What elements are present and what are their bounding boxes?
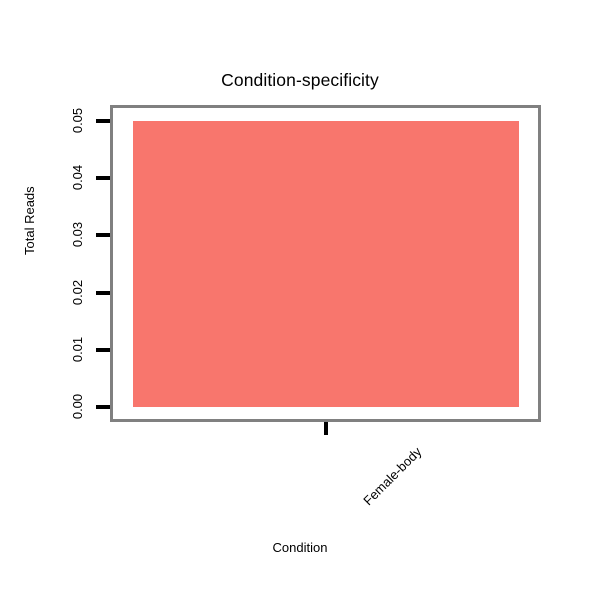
y-tick-label: 0.03 bbox=[0, 227, 90, 242]
y-tick-label-text: 0.03 bbox=[70, 222, 85, 247]
y-tick-mark bbox=[96, 291, 110, 295]
x-tick-mark bbox=[324, 422, 328, 435]
y-tick-mark bbox=[96, 233, 110, 237]
plot-panel bbox=[113, 108, 538, 419]
y-tick-label: 0.00 bbox=[0, 399, 90, 414]
y-tick-label-text: 0.05 bbox=[70, 108, 85, 133]
y-tick-label-text: 0.04 bbox=[70, 165, 85, 190]
x-axis-title: Condition bbox=[0, 540, 600, 555]
y-tick-mark bbox=[96, 119, 110, 123]
y-tick-label-text: 0.02 bbox=[70, 279, 85, 304]
y-tick-label: 0.02 bbox=[0, 285, 90, 300]
y-tick-label: 0.01 bbox=[0, 342, 90, 357]
y-axis-title: Total Reads bbox=[22, 186, 37, 255]
y-tick-mark bbox=[96, 348, 110, 352]
chart-title: Condition-specificity bbox=[0, 70, 600, 91]
y-tick-label-text: 0.01 bbox=[70, 337, 85, 362]
x-tick-label: Female-body bbox=[360, 444, 424, 508]
y-tick-mark bbox=[96, 405, 110, 409]
chart-container: Condition-specificity 0.000.010.020.030.… bbox=[0, 0, 600, 600]
y-tick-label-text: 0.00 bbox=[70, 394, 85, 419]
y-tick-label: 0.04 bbox=[0, 170, 90, 185]
y-tick-mark bbox=[96, 176, 110, 180]
bar-female-body bbox=[133, 121, 519, 407]
y-tick-label: 0.05 bbox=[0, 113, 90, 128]
